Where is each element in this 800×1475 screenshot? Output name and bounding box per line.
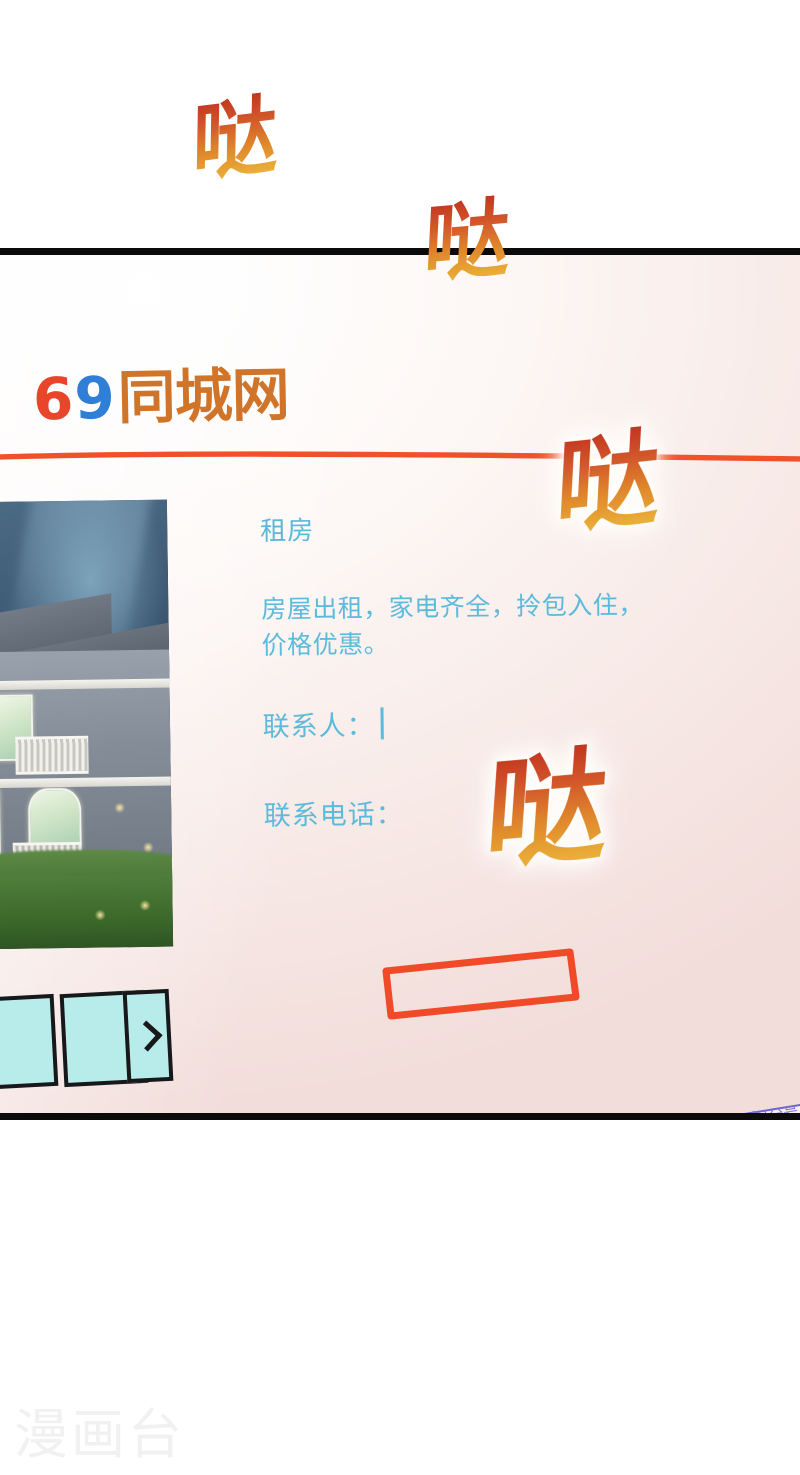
- ime-more-names-label: 更多人名(分号+R): [702, 1098, 800, 1120]
- gallery-thumbnail-1[interactable]: [0, 994, 58, 1090]
- site-watermark: 漫画台: [14, 1390, 185, 1469]
- contact-phone-label: 联系电话：: [264, 792, 404, 833]
- site-logo[interactable]: 69同城网: [32, 366, 289, 429]
- text-caret: [380, 707, 383, 739]
- logo-text: 同城网: [117, 361, 289, 432]
- comic-page: 69同城网: [0, 0, 800, 1475]
- sfx-da-1: 哒: [192, 90, 279, 187]
- ime-more-names-hint[interactable]: i更多人名(分号+R): [682, 1096, 800, 1120]
- contact-person-row[interactable]: 联系人：: [262, 699, 732, 744]
- photo-balcony-railing: [15, 736, 89, 774]
- logo-digit-6: 6: [32, 365, 75, 434]
- sfx-da-3: 哒: [554, 424, 663, 540]
- listing-description: 房屋出租，家电齐全，拎包入住， 价格优惠。: [261, 586, 732, 663]
- ime-candidate-bar[interactable]: han'xian'sheng i更多人名(分号+R) 1. 韩先生◎2. 寒先生…: [404, 1091, 800, 1120]
- top-gutter: [0, 0, 800, 248]
- photo-arch-window: [28, 787, 82, 850]
- sfx-da-4: 哒: [482, 742, 612, 876]
- sfx-da-2: 哒: [422, 194, 512, 288]
- contact-person-label: 联系人：: [262, 704, 374, 744]
- photo-lawn: [0, 874, 173, 949]
- header-divider: [0, 451, 800, 460]
- listing-photo[interactable]: [0, 500, 173, 950]
- screen-panel: 69同城网: [0, 248, 800, 1120]
- contact-field-highlight: [380, 949, 580, 1021]
- listing-category: 租房: [260, 505, 730, 548]
- gallery-next-button[interactable]: [123, 989, 174, 1083]
- chevron-right-icon: [131, 1021, 162, 1052]
- logo-digit-9: 9: [74, 364, 117, 433]
- photo-light-glow: [114, 802, 125, 813]
- contact-person-input[interactable]: [374, 707, 383, 740]
